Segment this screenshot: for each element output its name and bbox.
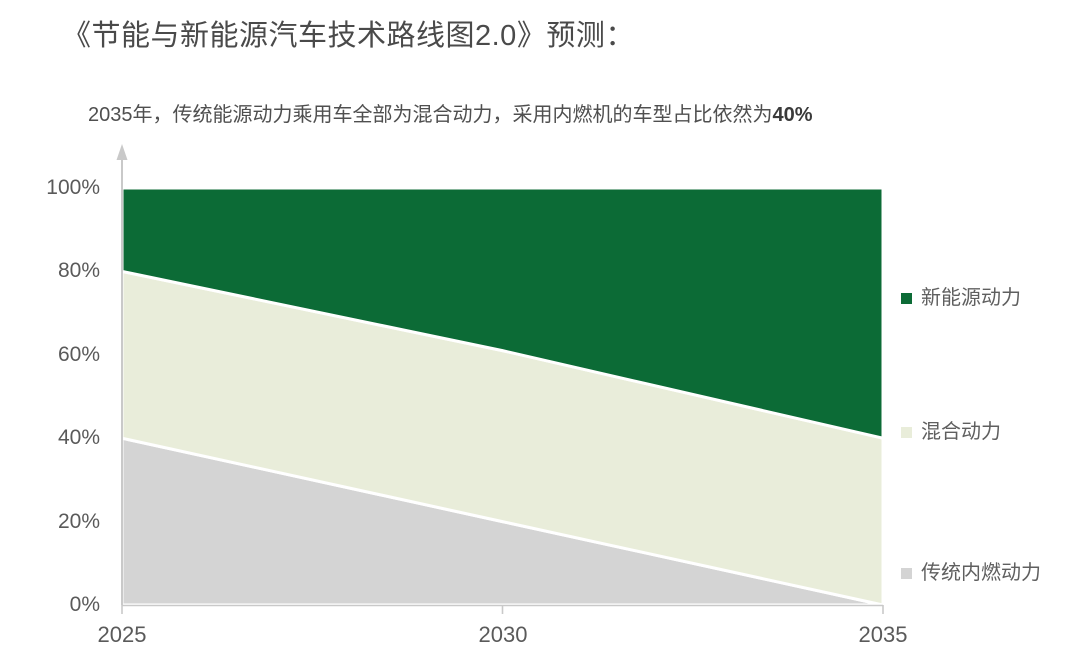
y-tick-label: 20% xyxy=(58,510,100,534)
legend-item-ice[interactable]: 传统内燃动力 xyxy=(901,563,1041,583)
y-tick-label: 60% xyxy=(58,343,100,367)
chart-page: 《节能与新能源汽车技术路线图2.0》预测： 2035年，传统能源动力乘用车全部为… xyxy=(0,0,1080,665)
legend-item-hybrid[interactable]: 混合动力 xyxy=(901,422,1001,442)
legend-item-nev[interactable]: 新能源动力 xyxy=(901,288,1021,308)
y-tick-label: 80% xyxy=(58,259,100,283)
y-tick-label: 40% xyxy=(58,426,100,450)
stacked-area-chart: 100% 80% 60% 40% 20% 0% 2025 2030 2035 新… xyxy=(0,0,1080,665)
legend-label-hybrid: 混合动力 xyxy=(921,422,1001,442)
area-series-group xyxy=(122,188,883,605)
y-axis-labels: 100% 80% 60% 40% 20% 0% xyxy=(0,0,108,665)
x-tick-label: 2030 xyxy=(479,622,528,648)
legend-swatch-nev xyxy=(901,293,912,304)
x-tick-label: 2025 xyxy=(98,622,147,648)
legend-swatch-ice xyxy=(901,568,912,579)
legend-swatch-hybrid xyxy=(901,427,912,438)
y-tick-label: 0% xyxy=(70,593,100,617)
y-axis-arrow-icon xyxy=(117,144,128,160)
legend-label-nev: 新能源动力 xyxy=(921,288,1021,308)
y-tick-label: 100% xyxy=(46,176,100,200)
legend-label-ice: 传统内燃动力 xyxy=(921,563,1041,583)
x-tick-label: 2035 xyxy=(859,622,908,648)
